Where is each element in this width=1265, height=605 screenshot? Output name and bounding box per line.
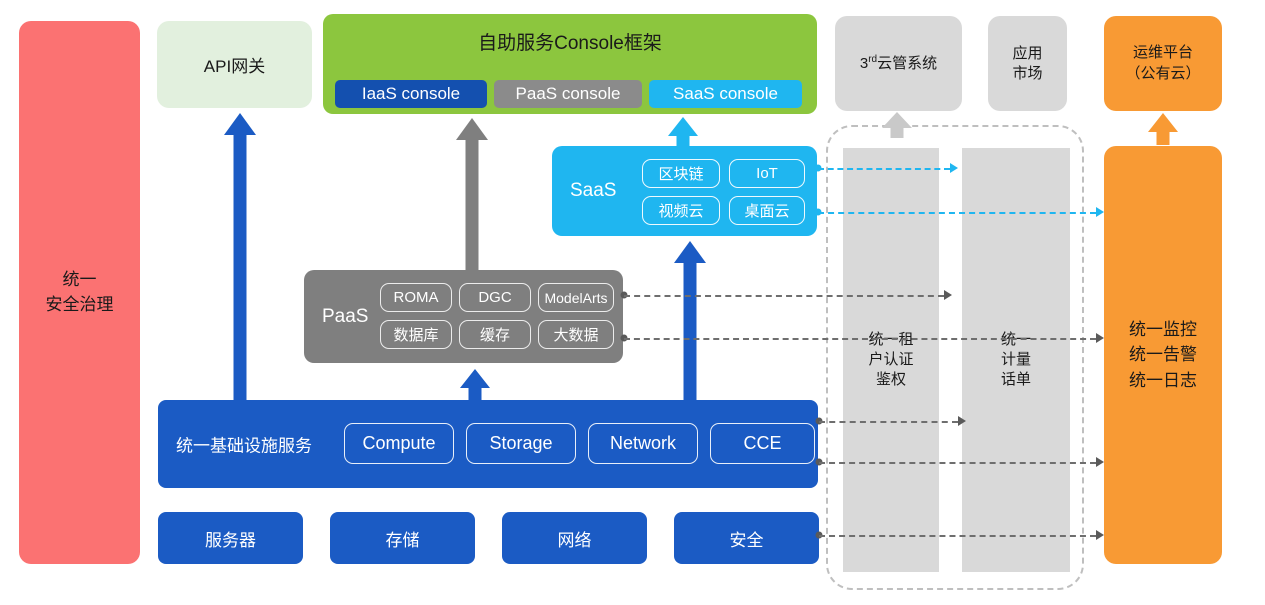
third-party-superscript: rd	[868, 54, 877, 65]
app-market-line2: 市场	[1012, 64, 1042, 84]
infra-service-network-label: Network	[610, 433, 676, 454]
paas-service-roma-label: ROMA	[394, 289, 439, 306]
base-resource-storage[interactable]: 存储	[330, 512, 475, 564]
tenant-auth-line3: 鉴权	[876, 370, 906, 390]
infra-service-cce[interactable]: CCE	[710, 423, 815, 464]
saas-service-blockchain-label: 区块链	[658, 163, 703, 184]
paas-service-roma[interactable]: ROMA	[380, 283, 452, 312]
infra-service-storage-label: Storage	[489, 433, 552, 454]
infra-service-network[interactable]: Network	[588, 423, 698, 464]
arrowhead-paas-to-tenant-auth	[944, 290, 952, 300]
infra-service-compute[interactable]: Compute	[344, 423, 454, 464]
connector-base-to-ops-panel	[819, 535, 1096, 537]
paas-service-modelarts-label: ModelArts	[544, 290, 607, 306]
saas-service-desktop-cloud[interactable]: 桌面云	[729, 196, 805, 225]
saas-console-label: SaaS console	[673, 84, 778, 104]
arrow-infra-to-api-gateway	[224, 113, 256, 403]
arrowhead-base-to-ops-panel	[1096, 530, 1104, 540]
connector-saas-to-ops-panel	[818, 212, 1096, 214]
paas-console-label: PaaS console	[516, 84, 621, 104]
ops-panel-line1: 统一监控	[1129, 317, 1197, 343]
arrow-saas-to-saas-console	[667, 117, 699, 149]
saas-service-desktop-cloud-label: 桌面云	[744, 200, 789, 221]
security-label-line1: 统一	[63, 268, 97, 293]
iaas-console-chip[interactable]: IaaS console	[335, 80, 487, 108]
paas-service-dgc-label: DGC	[478, 289, 511, 306]
ops-top-line1: 运维平台	[1133, 43, 1193, 63]
paas-service-cache[interactable]: 缓存	[459, 320, 531, 349]
paas-service-bigdata[interactable]: 大数据	[538, 320, 614, 349]
api-gateway-label: API网关	[204, 52, 265, 77]
infra-service-cce-label: CCE	[743, 433, 781, 454]
unified-infrastructure-bar: 统一基础设施服务 Compute Storage Network CCE	[158, 400, 818, 488]
paas-service-bigdata-label: 大数据	[553, 324, 598, 345]
paas-service-database-label: 数据库	[393, 324, 438, 345]
infra-service-storage[interactable]: Storage	[466, 423, 576, 464]
app-market-box: 应用 市场	[988, 16, 1067, 111]
arrowhead-saas-to-tenant-auth	[950, 163, 958, 173]
base-resource-security[interactable]: 安全	[674, 512, 819, 564]
paas-layer-block: PaaS ROMA DGC ModelArts 数据库 缓存 大数据	[304, 270, 623, 363]
infra-service-compute-label: Compute	[362, 433, 435, 454]
ops-top-line2: （公有云）	[1125, 64, 1200, 84]
paas-service-modelarts[interactable]: ModelArts	[538, 283, 614, 312]
paas-console-chip[interactable]: PaaS console	[494, 80, 642, 108]
connector-infra-to-metering	[819, 421, 958, 423]
arrowhead-saas-to-ops-panel	[1096, 207, 1104, 217]
paas-service-dgc[interactable]: DGC	[459, 283, 531, 312]
security-label-line2: 安全治理	[46, 293, 114, 318]
arrow-infra-to-paas	[459, 369, 491, 402]
base-resource-storage-label: 存储	[386, 526, 420, 551]
third-party-label: 3rd云管系统	[860, 53, 937, 74]
metering-line2: 计量	[1001, 350, 1031, 370]
connector-infra-to-ops-panel	[819, 462, 1096, 464]
connector-paas-to-ops-panel	[624, 338, 1096, 340]
saas-service-video-cloud[interactable]: 视频云	[642, 196, 720, 225]
tenant-auth-line2: 户认证	[868, 350, 913, 370]
architecture-diagram: 统一 安全治理 API网关 自助服务Console框架 IaaS console…	[0, 0, 1265, 605]
paas-layer-label: PaaS	[322, 306, 368, 328]
saas-service-video-cloud-label: 视频云	[658, 200, 703, 221]
base-resource-network[interactable]: 网络	[502, 512, 647, 564]
app-market-line1: 应用	[1012, 44, 1042, 64]
arrow-paas-to-paas-console	[456, 118, 488, 273]
console-framework-title: 自助服务Console框架	[323, 28, 817, 55]
api-gateway-box: API网关	[157, 21, 312, 108]
arrow-ops-panel-to-ops-platform	[1147, 113, 1179, 145]
saas-service-iot-label: IoT	[756, 165, 778, 182]
iaas-console-label: IaaS console	[362, 84, 460, 104]
connector-paas-to-tenant-auth	[624, 295, 944, 297]
ops-panel-line3: 统一日志	[1129, 368, 1197, 394]
connector-saas-to-tenant-auth	[818, 168, 950, 170]
arrow-infra-to-saas	[674, 241, 706, 402]
ops-panel-line2: 统一告警	[1129, 342, 1197, 368]
saas-service-blockchain[interactable]: 区块链	[642, 159, 720, 188]
console-framework-panel: 自助服务Console框架 IaaS console PaaS console …	[323, 14, 817, 114]
infrastructure-label: 统一基础设施服务	[176, 432, 312, 457]
base-resource-server-label: 服务器	[205, 526, 256, 551]
paas-service-cache-label: 缓存	[480, 324, 510, 345]
arrowhead-paas-to-ops-panel	[1096, 333, 1104, 343]
third-party-cloud-mgmt-box: 3rd云管系统	[835, 16, 962, 111]
base-resource-security-label: 安全	[730, 526, 764, 551]
arrowhead-infra-to-ops-panel	[1096, 457, 1104, 467]
arrow-shared-to-third-party	[881, 112, 913, 138]
saas-console-chip[interactable]: SaaS console	[649, 80, 802, 108]
paas-service-database[interactable]: 数据库	[380, 320, 452, 349]
ops-platform-public-cloud-box: 运维平台 （公有云）	[1104, 16, 1222, 111]
saas-layer-block: SaaS 区块链 IoT 视频云 桌面云	[552, 146, 817, 236]
metering-line3: 话单	[1001, 370, 1031, 390]
saas-service-iot[interactable]: IoT	[729, 159, 805, 188]
unified-monitoring-panel: 统一监控 统一告警 统一日志	[1104, 146, 1222, 564]
base-resource-network-label: 网络	[558, 526, 592, 551]
saas-layer-label: SaaS	[570, 180, 616, 202]
base-resource-server[interactable]: 服务器	[158, 512, 303, 564]
unified-security-governance-panel: 统一 安全治理	[19, 21, 140, 564]
arrowhead-infra-to-metering	[958, 416, 966, 426]
